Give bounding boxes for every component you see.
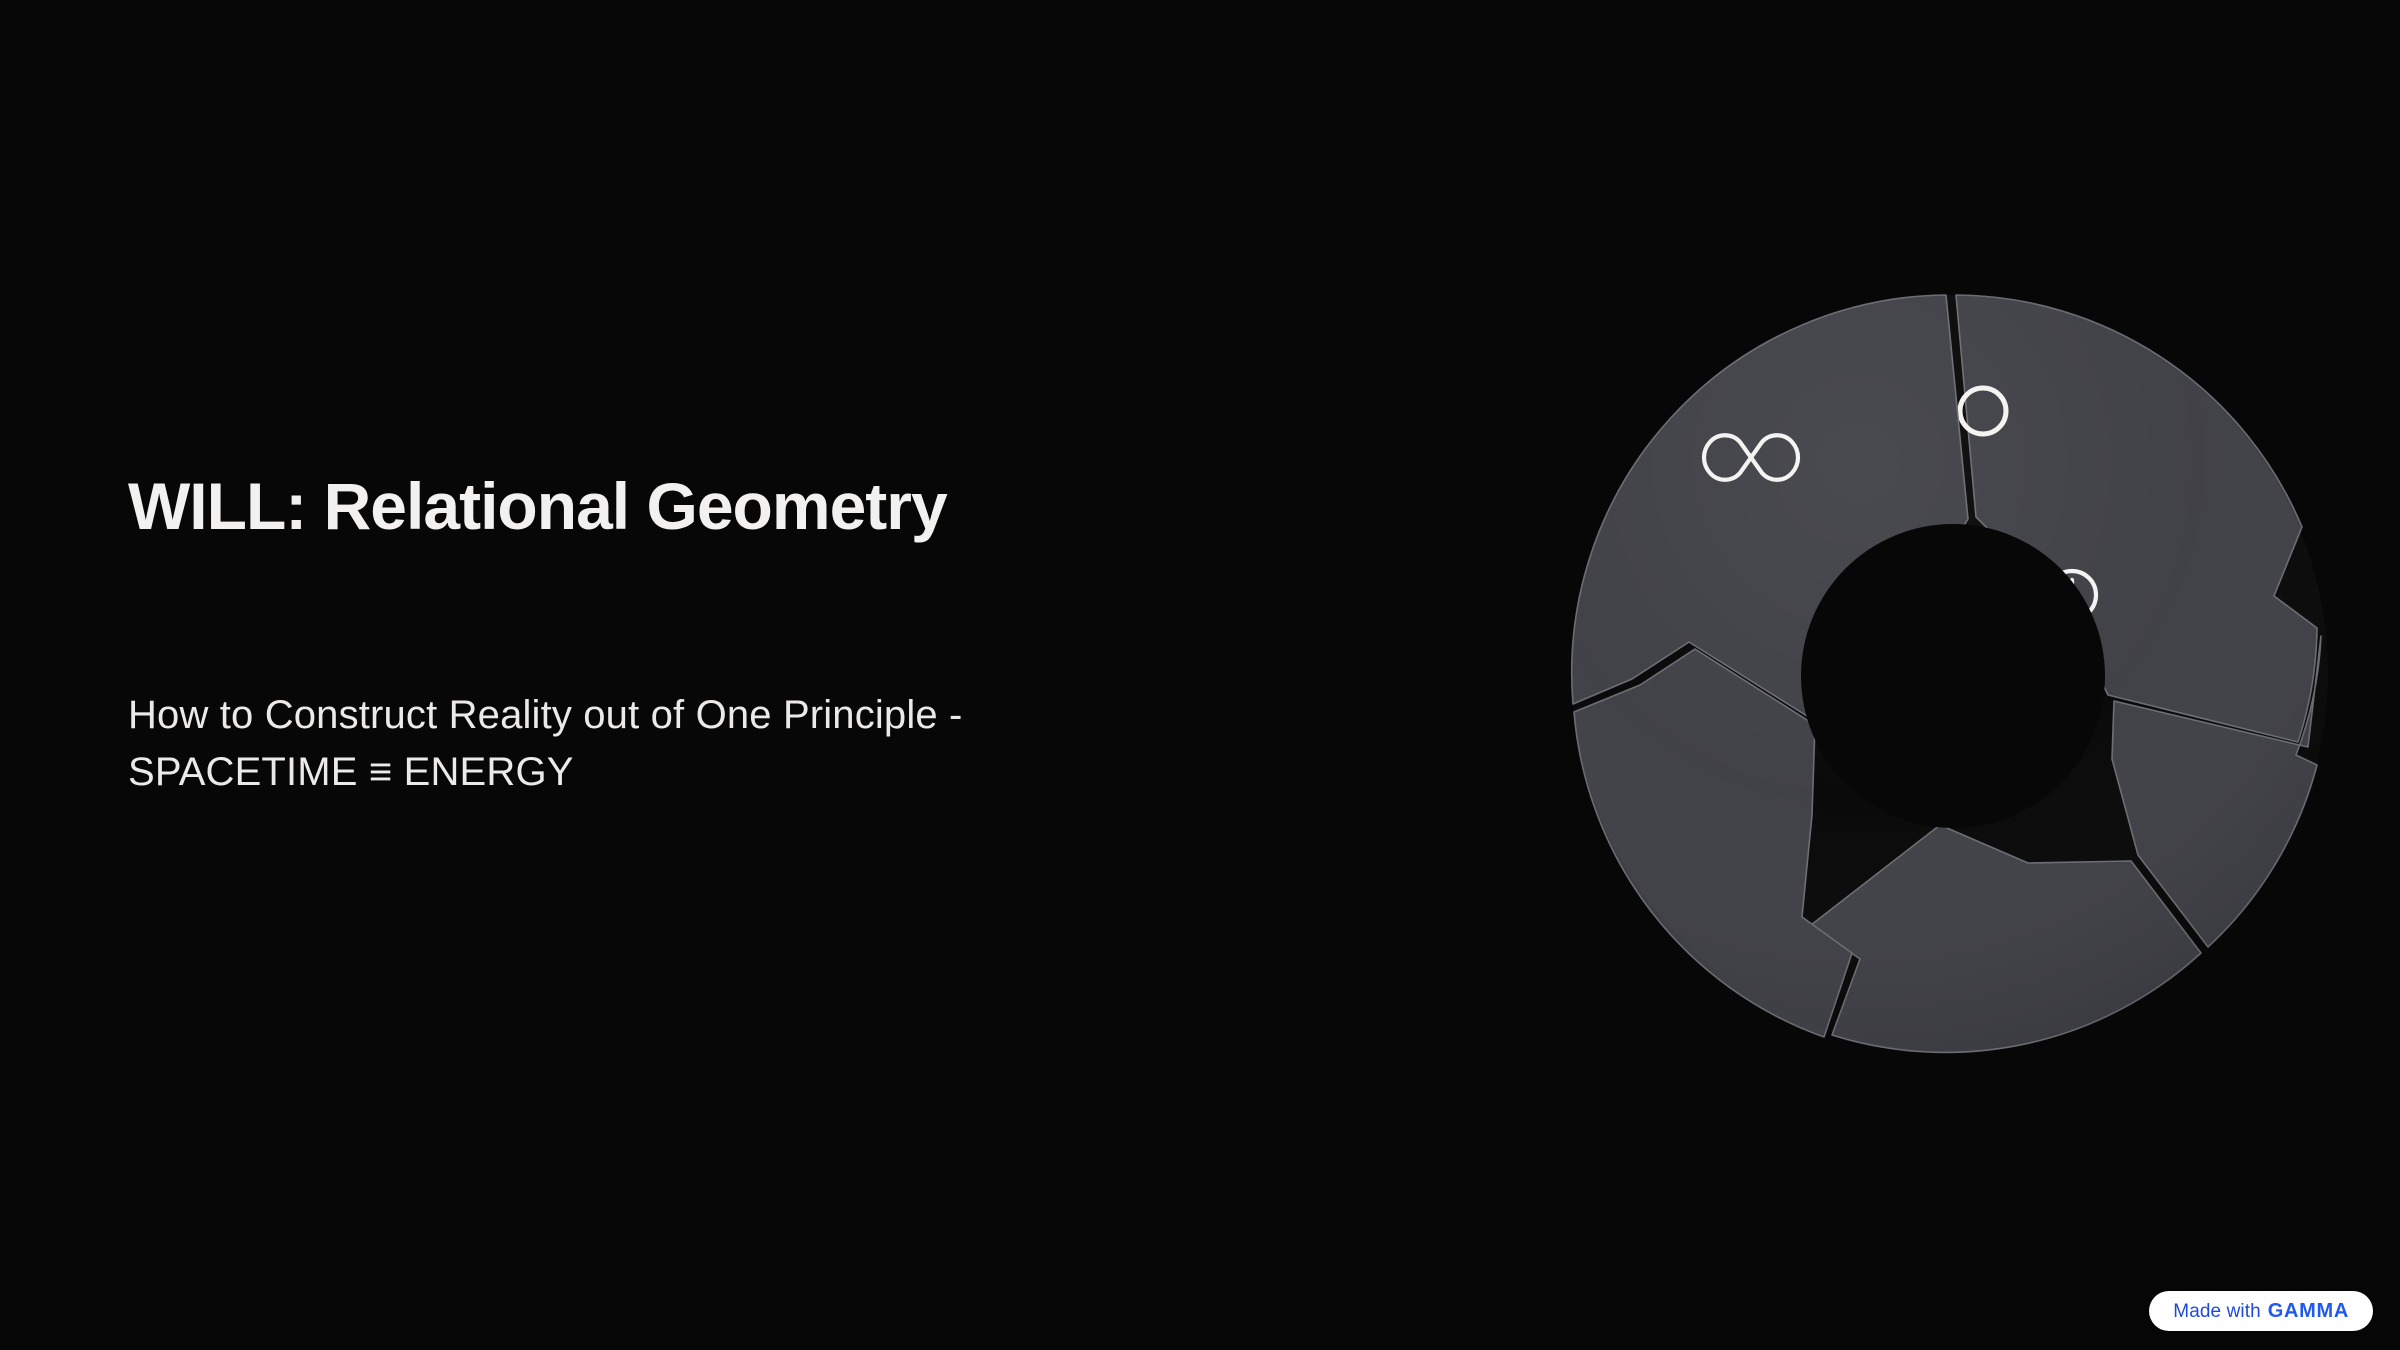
made-with-gamma-badge[interactable]: Made with GAMMA — [2149, 1291, 2373, 1331]
diagram-hub — [1801, 524, 2105, 828]
badge-prefix-label: Made with — [2173, 1302, 2260, 1321]
page-subtitle: How to Construct Reality out of One Prin… — [128, 687, 1188, 801]
badge-brand-label: GAMMA — [2268, 1301, 2349, 1321]
relational-geometry-diagram — [1572, 295, 2328, 1051]
text-column: WILL: Relational Geometry How to Constru… — [128, 470, 1288, 801]
page-title: WILL: Relational Geometry — [128, 470, 1288, 544]
slide-root: WILL: Relational Geometry How to Constru… — [0, 0, 2400, 1350]
